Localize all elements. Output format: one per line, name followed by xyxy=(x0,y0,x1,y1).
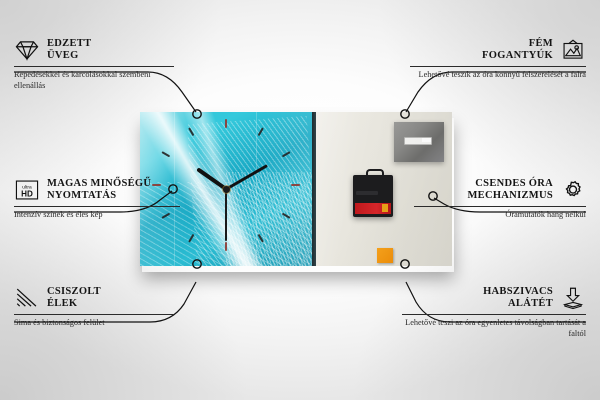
hour-marker xyxy=(291,184,300,186)
callout-rule xyxy=(402,314,586,315)
callout-title: CSENDES ÓRA MECHANIZMUS xyxy=(467,178,553,203)
infographic-canvas: EDZETT ÜVEG Repedésekkel és karcolásokka… xyxy=(0,0,600,400)
callout-rule xyxy=(14,206,180,207)
callout-header: EDZETT ÜVEG xyxy=(14,38,174,63)
callout-foam-pad: HABSZIVACS ALÁTÉT Lehetővé teszi az óra … xyxy=(402,286,586,339)
callout-header: CSISZOLT ÉLEK xyxy=(14,286,174,311)
hour-marker xyxy=(225,119,227,128)
mechanism-ridge xyxy=(356,191,378,195)
callout-rule xyxy=(14,314,174,315)
hour-marker xyxy=(258,234,264,243)
callout-description: Intenzív színek és éles kép xyxy=(14,210,180,221)
callout-rule xyxy=(410,66,586,67)
callout-title: CSISZOLT ÉLEK xyxy=(47,286,101,311)
metal-hanger xyxy=(394,122,444,162)
callout-rule xyxy=(414,206,586,207)
svg-text:HD: HD xyxy=(21,190,33,199)
hour-marker xyxy=(225,242,227,251)
second-hand xyxy=(225,189,227,241)
callout-header: FÉM FOGANTYÚK xyxy=(410,38,586,63)
callout-header: CSENDES ÓRA MECHANIZMUS xyxy=(414,178,586,203)
callout-description: Sima és biztonságos felület xyxy=(14,318,174,329)
callout-tempered-glass: EDZETT ÜVEG Repedésekkel és karcolásokka… xyxy=(14,38,174,91)
minute-hand xyxy=(225,164,267,190)
hour-marker xyxy=(258,127,264,136)
mechanism-hook xyxy=(366,169,384,179)
callout-rule xyxy=(14,66,174,67)
polished-edges-icon xyxy=(14,286,40,310)
mechanism-label xyxy=(355,203,391,214)
hour-marker xyxy=(188,234,194,243)
foam-pad-icon xyxy=(560,286,586,310)
callout-header: HABSZIVACS ALÁTÉT xyxy=(402,286,586,311)
ultra-hd-icon: ultra HD xyxy=(14,178,40,202)
callout-description: Óramutatók hang nélkül xyxy=(414,210,586,221)
callout-title: HABSZIVACS ALÁTÉT xyxy=(483,286,553,311)
hour-marker xyxy=(282,151,291,157)
diamond-icon xyxy=(14,38,40,62)
hanger-slot xyxy=(404,137,432,145)
hour-marker xyxy=(161,151,170,157)
callout-polished-edges: CSISZOLT ÉLEK Sima és biztonságos felüle… xyxy=(14,286,174,329)
callout-silent-mechanism: CSENDES ÓRA MECHANIZMUS Óramutatók hang … xyxy=(414,178,586,221)
gear-icon xyxy=(560,178,586,202)
callout-header: ultra HD MAGAS MINŐSÉGŰ NYOMTATÁS xyxy=(14,178,180,203)
callout-title: FÉM FOGANTYÚK xyxy=(482,38,553,63)
hour-marker xyxy=(282,213,291,219)
clock-center-pivot xyxy=(223,186,230,193)
quiet-clock-mechanism xyxy=(353,175,393,217)
callout-description: Repedésekkel és karcolásokkal szembeni e… xyxy=(14,70,174,92)
callout-description: Lehetővé teszik az óra könnyű felszerelé… xyxy=(410,70,586,81)
callout-metal-handles: FÉM FOGANTYÚK Lehetővé teszik az óra kön… xyxy=(410,38,586,81)
foam-spacer-pad xyxy=(377,248,393,263)
picture-hanger-icon xyxy=(560,38,586,62)
product-image xyxy=(140,112,452,266)
callout-high-quality-print: ultra HD MAGAS MINŐSÉGŰ NYOMTATÁS Intenz… xyxy=(14,178,180,221)
callout-description: Lehetővé teszi az óra egyenletes távolsá… xyxy=(402,318,586,340)
callout-title: EDZETT ÜVEG xyxy=(47,38,91,63)
hour-marker xyxy=(188,127,194,136)
callout-title: MAGAS MINŐSÉGŰ NYOMTATÁS xyxy=(47,178,151,203)
